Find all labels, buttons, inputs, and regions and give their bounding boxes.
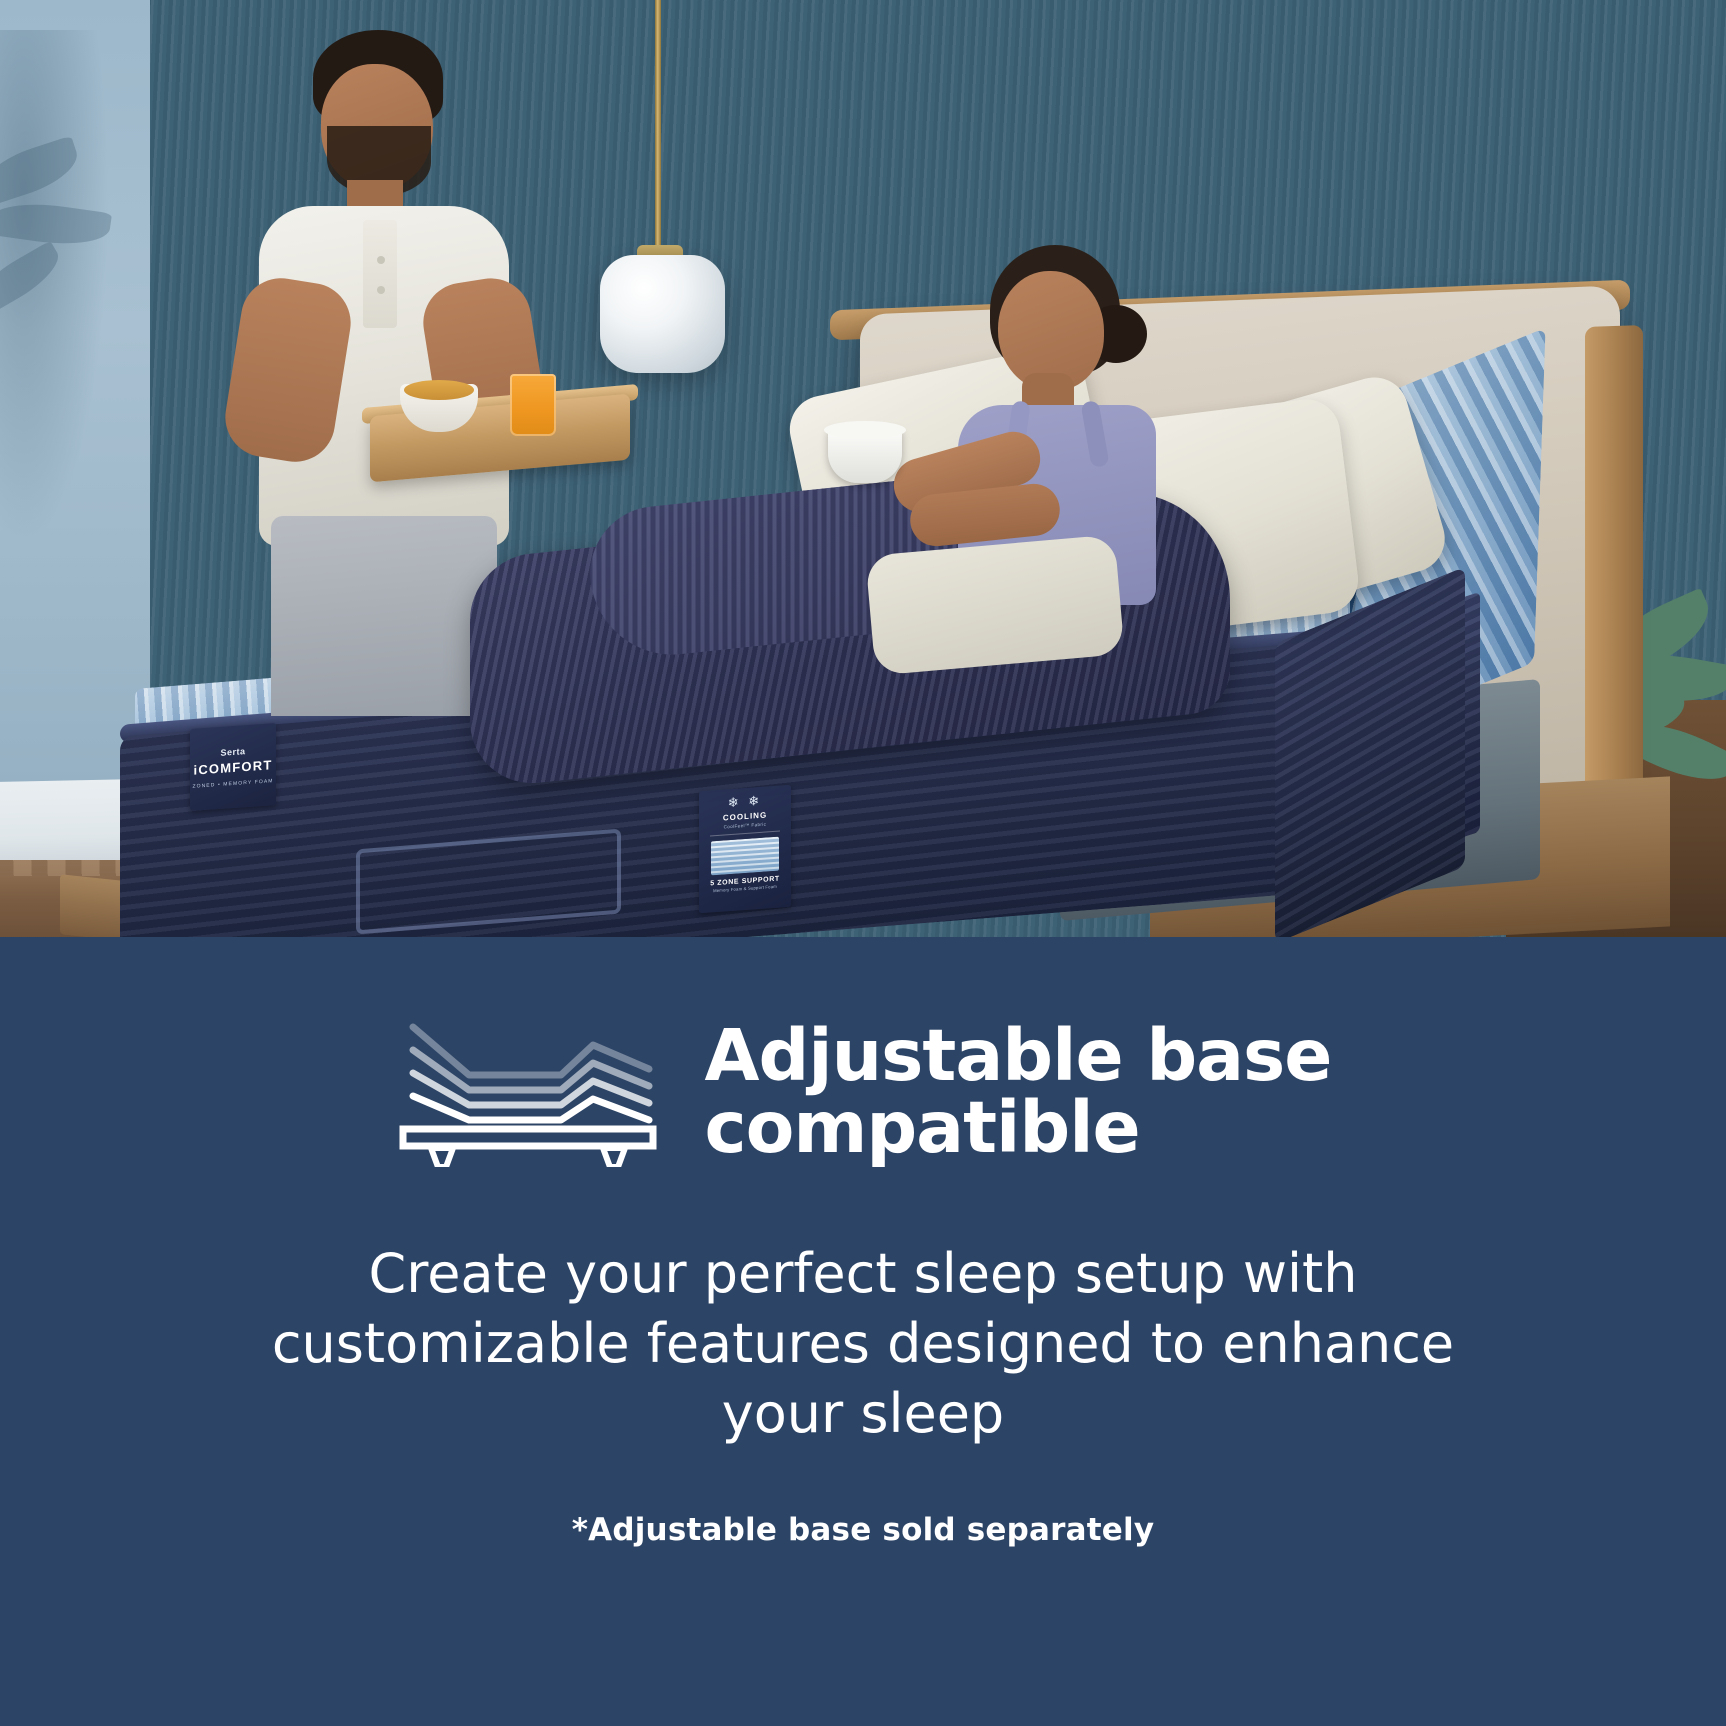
- bowl-contents: [404, 380, 474, 400]
- serta-logo-text: Serta: [220, 746, 245, 758]
- shirt-placket: [363, 220, 397, 328]
- pendant-lamp-shade: [600, 255, 725, 373]
- lifestyle-photo: Serta iCOMFORT ZONED • MEMORY FOAM ❄ ❄ C…: [0, 0, 1726, 937]
- shirt-button: [377, 256, 385, 264]
- headline-line-1: Adjustable base: [705, 1014, 1332, 1097]
- adjustable-base-icon: [395, 1017, 661, 1167]
- feature-description: Create your perfect sleep setup with cus…: [238, 1239, 1488, 1450]
- icomfort-name: iCOMFORT: [194, 757, 273, 778]
- cooling-feature-tag: ❄ ❄ COOLING CoolFeel™ Fabric 5 ZONE SUPP…: [699, 785, 791, 913]
- headline-line-2: compatible: [705, 1086, 1140, 1169]
- divider: [710, 831, 780, 837]
- cooling-title: COOLING: [723, 810, 767, 822]
- juice-glass: [510, 374, 556, 436]
- shirt-button: [377, 286, 385, 294]
- headline-row: Adjustable basecompatible: [0, 1017, 1726, 1167]
- wall-shadow: [0, 30, 120, 590]
- cooling-subtitle: CoolFeel™ Fabric: [724, 822, 767, 830]
- coffee-mug-rim: [824, 421, 906, 439]
- page-title: Adjustable basecompatible: [705, 1020, 1332, 1165]
- mattress-cutaway-illustration: [711, 837, 779, 876]
- icomfort-subtitle: ZONED • MEMORY FOAM: [192, 778, 273, 790]
- feature-panel: Adjustable basecompatible Create your pe…: [0, 937, 1726, 1726]
- snowflake-icon: ❄ ❄: [728, 794, 762, 809]
- bed-sheet: [865, 534, 1125, 675]
- person-in-bed: [880, 245, 1200, 665]
- serta-brand-tag: Serta iCOMFORT ZONED • MEMORY FOAM: [190, 723, 276, 811]
- promo-card: Serta iCOMFORT ZONED • MEMORY FOAM ❄ ❄ C…: [0, 0, 1726, 1726]
- disclaimer-note: *Adjustable base sold separately: [572, 1512, 1155, 1548]
- pants: [271, 516, 497, 716]
